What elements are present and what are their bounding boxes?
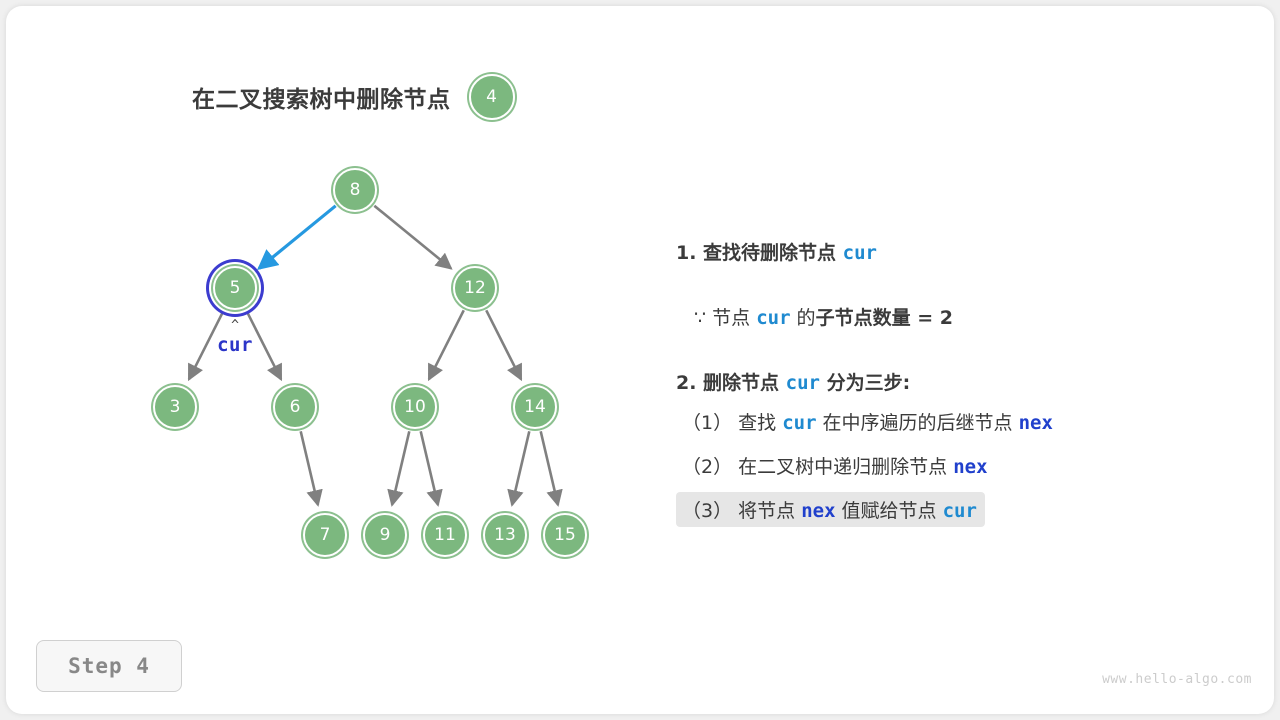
tree-node-7: 7 <box>303 513 347 557</box>
tree-node-14: 14 <box>513 385 557 429</box>
tree-node-11: 11 <box>423 513 467 557</box>
substep-1-index: （1） <box>682 412 732 434</box>
substep-3-index: （3） <box>682 500 732 522</box>
tree-node-6: 6 <box>273 385 317 429</box>
watermark: www.hello-algo.com <box>1102 672 1252 687</box>
note-line-2-prefix: 2. 删除节点 <box>676 372 786 394</box>
substep-3-text-2: 值赋给节点 <box>836 500 943 522</box>
substep-row: （1） 查找 cur 在中序遍历的后继节点 nex <box>676 395 1236 439</box>
substep-1: （1） 查找 cur 在中序遍历的后继节点 nex <box>676 404 1061 439</box>
step-badge: Step 4 <box>36 640 182 692</box>
tree-node-8: 8 <box>333 168 377 212</box>
cur-pointer-caret-icon: ^ <box>231 318 239 333</box>
note-reason: ∵ 节点 cur 的子节点数量 = 2 <box>694 303 1236 330</box>
substep-2-text-1: 在二叉树中递归删除节点 <box>732 456 953 478</box>
note-line-1-code: cur <box>843 242 877 264</box>
substep-1-text-2: 在中序遍历的后继节点 <box>817 412 1019 434</box>
substep-3-text-1: 将节点 <box>732 500 801 522</box>
substep-1-code-1: cur <box>782 412 816 434</box>
note-reason-part3: = 2 <box>911 307 953 329</box>
because-symbol: ∵ <box>694 307 706 329</box>
substep-list: （1） 查找 cur 在中序遍历的后继节点 nex（2） 在二叉树中递归删除节点… <box>676 395 1236 527</box>
explanation-panel: 1. 查找待删除节点 cur ∵ 节点 cur 的子节点数量 = 2 2. 删除… <box>676 238 1236 527</box>
screenshot-canvas: 在二叉搜索树中删除节点 4 851236101479111315^cur 1. … <box>0 0 1280 720</box>
note-reason-part1: 节点 <box>706 307 756 329</box>
substep-3: （3） 将节点 nex 值赋给节点 cur <box>676 492 985 527</box>
substep-2-index: （2） <box>682 456 732 478</box>
note-line-2: 2. 删除节点 cur 分为三步: <box>676 368 1236 395</box>
note-reason-part2: 的 <box>791 307 816 329</box>
substep-3-code-2: cur <box>943 500 977 522</box>
tree-node-10: 10 <box>393 385 437 429</box>
tree-nodes-layer: 851236101479111315^cur <box>0 0 680 620</box>
substep-2-code-1: nex <box>953 456 987 478</box>
note-reason-code: cur <box>756 307 790 329</box>
substep-1-code-2: nex <box>1019 412 1053 434</box>
note-line-2-suffix: 分为三步: <box>820 372 910 394</box>
cur-pointer-label: cur <box>217 334 253 356</box>
note-line-2-code: cur <box>786 372 820 394</box>
note-reason-bold: 子节点数量 <box>816 307 911 329</box>
tree-node-9: 9 <box>363 513 407 557</box>
substep-3-code-1: nex <box>801 500 835 522</box>
substep-2: （2） 在二叉树中递归删除节点 nex <box>676 448 996 483</box>
tree-node-12: 12 <box>453 266 497 310</box>
tree-node-3: 3 <box>153 385 197 429</box>
substep-row: （3） 将节点 nex 值赋给节点 cur <box>676 483 1236 527</box>
tree-node-13: 13 <box>483 513 527 557</box>
tree-node-15: 15 <box>543 513 587 557</box>
substep-row: （2） 在二叉树中递归删除节点 nex <box>676 439 1236 483</box>
note-line-1-text: 1. 查找待删除节点 <box>676 242 843 264</box>
note-line-1: 1. 查找待删除节点 cur <box>676 238 1236 265</box>
substep-1-text-1: 查找 <box>732 412 782 434</box>
tree-node-5: 5 <box>213 266 257 310</box>
